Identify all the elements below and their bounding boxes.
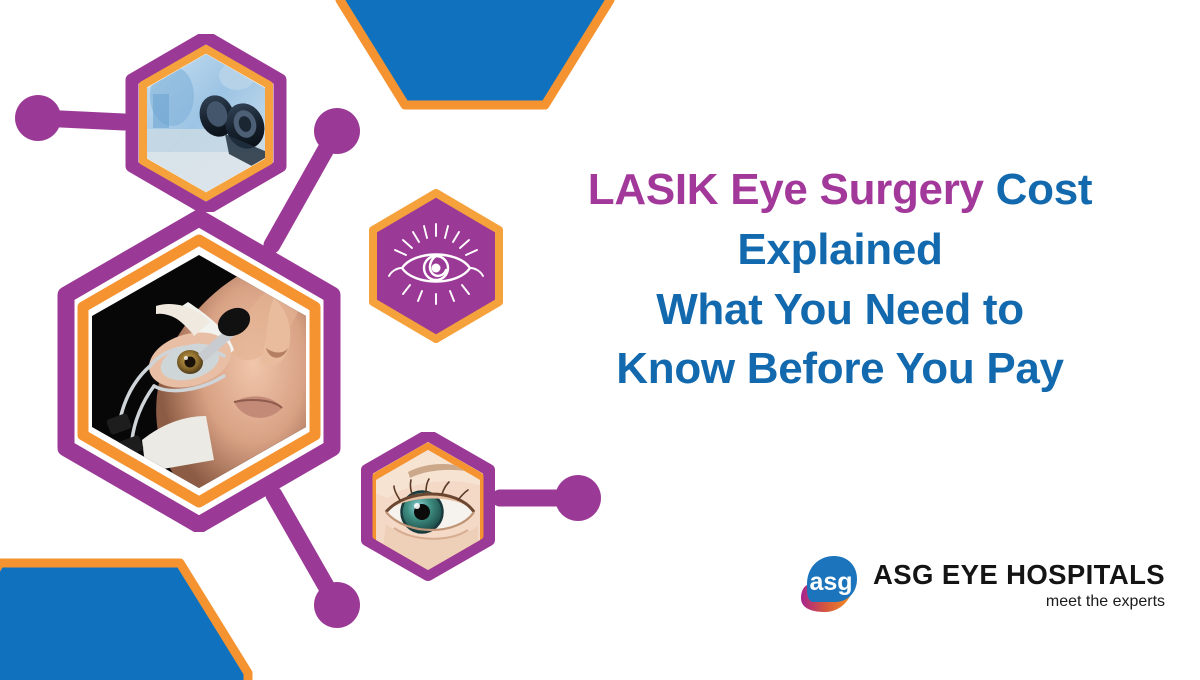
connector-dot-lower-left	[314, 582, 360, 628]
headline: LASIK Eye Surgery Cost Explained What Yo…	[520, 160, 1160, 399]
asg-wordmark: asg	[809, 568, 852, 596]
hexagon-photo-eye-closeup	[350, 432, 506, 588]
connector-dot-upper-right	[314, 108, 360, 154]
connector-dot-right	[555, 475, 601, 521]
banner-canvas: LASIK Eye Surgery Cost Explained What Yo…	[0, 0, 1200, 680]
hexagon-photo-lasik-surgery	[38, 210, 360, 532]
headline-line-2: Explained	[520, 220, 1160, 280]
logo-company-name: ASG EYE HOSPITALS	[873, 561, 1165, 589]
connector-dot-left	[15, 95, 61, 141]
logo-tagline: meet the experts	[873, 594, 1165, 610]
headline-line-3: What You Need to	[520, 280, 1160, 340]
hexagon-eye-icon	[358, 188, 514, 344]
headline-segment-cost: Cost	[996, 165, 1093, 214]
asg-head-mark-icon: asg	[795, 550, 867, 622]
headline-line-4: Know Before You Pay	[520, 339, 1160, 399]
headline-segment-lasik: LASIK Eye Surgery	[588, 165, 996, 214]
hexagon-photo-microscope	[117, 34, 295, 212]
headline-line-1: LASIK Eye Surgery Cost	[520, 160, 1160, 220]
brand-logo[interactable]: asg ASG EYE HOSPITALS meet the experts	[795, 548, 1140, 623]
